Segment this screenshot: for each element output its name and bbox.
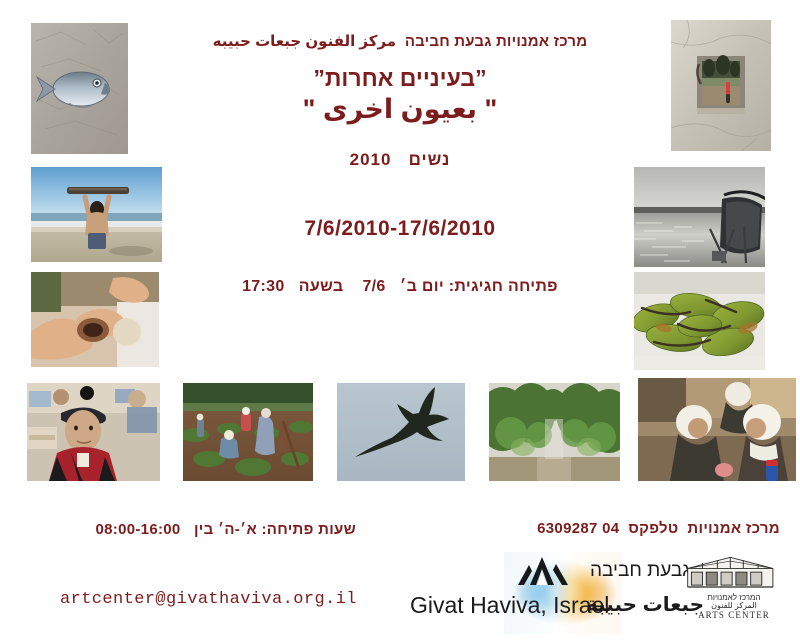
photo-orchard-trees xyxy=(489,383,620,481)
photo-artwork xyxy=(31,167,162,262)
arts-center-wordmark: המרכז לאמנויות المركز للفنون ARTS CENTER xyxy=(680,594,788,620)
photo-artwork xyxy=(183,383,313,481)
photo-women-with-headscarves xyxy=(638,378,796,481)
poster-canvas: מרכז אמנויות גבעת חביבה مركز الفنون جبعا… xyxy=(0,0,800,640)
givat-haviva-logo: Givat Haviva, Israel גבעת חביבה جبعات حب… xyxy=(408,552,796,634)
logo-name-hebrew: גבעת חביבה xyxy=(590,560,690,582)
arts-center-english: ARTS CENTER xyxy=(680,611,788,621)
photo-artwork xyxy=(489,383,620,481)
exhibition-title-arabic: " بعيون اخرى " xyxy=(0,94,800,124)
exhibition-title-hebrew: ”בעיניים אחרות” xyxy=(0,66,800,92)
arts-center-building-icon xyxy=(684,554,784,594)
opening-event-line: פתיחה חגיגית: יום ב׳ 7/6 בשעה 17:30 xyxy=(0,278,800,296)
organization-header: מרכז אמנויות גבעת חביבה مركز الفنون جبعا… xyxy=(0,34,800,51)
photo-women-in-field xyxy=(183,383,313,481)
photo-elderly-man-gathering xyxy=(27,383,160,481)
photo-bird-in-flight xyxy=(337,383,465,481)
photo-boy-with-driftwood xyxy=(31,167,162,262)
logo-chevron-mark xyxy=(516,556,570,586)
logo-name-english: Givat Haviva, Israel xyxy=(410,592,609,619)
exhibition-dates: 7/6/2010-17/6/2010 xyxy=(0,217,800,241)
photo-artwork xyxy=(337,383,465,481)
contact-email[interactable]: artcenter@givathaviva.org.il xyxy=(60,590,357,609)
arts-center-logo: המרכז לאמנויות المركز للفنون ARTS CENTER xyxy=(680,554,788,622)
contact-phone-line: מרכז אמנויות טלפקס 04 6309287 xyxy=(440,521,780,538)
opening-hours-line: שעות פתיחה: א׳-ה׳ בין 08:00-16:00 xyxy=(26,522,356,539)
photo-artwork xyxy=(27,383,160,481)
photo-artwork xyxy=(638,378,796,481)
exhibition-subtitle: נשים 2010 xyxy=(0,150,800,169)
